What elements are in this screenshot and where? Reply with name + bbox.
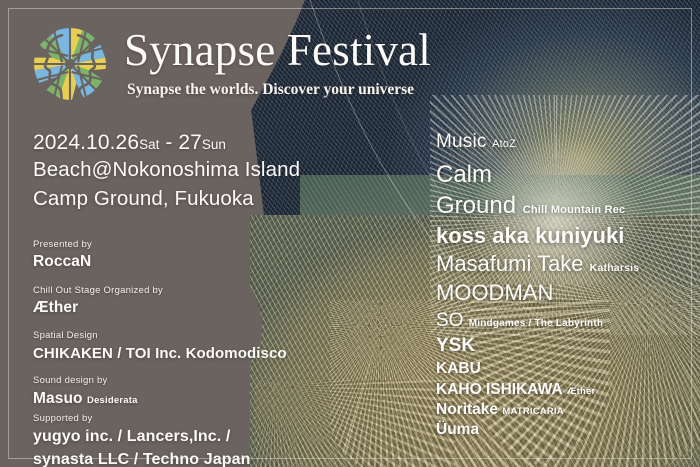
act-tag: Chill Mountain Rec (523, 204, 626, 216)
music-lineup: Music AtoZ Calm Ground Chill Mountain Re… (436, 132, 686, 442)
act-tag: Mindgames / The Labyrinth (469, 318, 603, 329)
date-dow-start: Sat (139, 137, 159, 152)
credit-value: Masuo Desiderata (33, 389, 333, 409)
lineup-heading: Music AtoZ (436, 132, 686, 151)
lineup-act: Üuma (436, 421, 686, 438)
act-name: Ground (436, 192, 516, 219)
credit-label: Presented by (33, 238, 333, 252)
festival-poster: Synapse Festival Synapse the worlds. Dis… (0, 0, 700, 467)
synapse-mosaic-logo-icon (30, 24, 110, 104)
act-name: KAHO ISHIKAWA (436, 381, 563, 398)
credit-presented-by: Presented by RoccaN (33, 238, 333, 273)
lineup-act: Ground Chill Mountain Rec (436, 193, 686, 220)
credit-value-name: Masuo (33, 390, 83, 407)
credit-chill-out-stage: Chill Out Stage Organized by Æther (33, 284, 333, 319)
credits-section: Presented by RoccaN Chill Out Stage Orga… (33, 238, 333, 467)
credit-value: Æther (33, 298, 333, 318)
credit-sound-design: Sound design by Masuo Desiderata (33, 374, 333, 409)
lineup-act: MOODMAN (436, 281, 686, 306)
lineup-heading-sub: AtoZ (492, 138, 516, 150)
date-dow-end: Sun (202, 137, 226, 152)
lineup-act: YSK (436, 335, 686, 356)
credit-value: CHIKAKEN / TOI Inc. Kodomodisco (33, 344, 333, 364)
credit-spatial-design: Spatial Design CHIKAKEN / TOI Inc. Kodom… (33, 329, 333, 363)
lineup-act: KABU (436, 360, 686, 377)
lineup-heading-text: Music (436, 131, 487, 152)
act-name: Üuma (436, 421, 479, 438)
act-name: MOODMAN (436, 280, 553, 305)
credit-value-sub: Desiderata (87, 395, 138, 406)
act-tag: Æther (567, 386, 595, 397)
lineup-act: Calm (436, 162, 686, 189)
lineup-act: Noritake MATRICARIA (436, 401, 686, 418)
lineup-act: SO Mindgames / The Labyrinth (436, 310, 686, 331)
act-tag: Katharsis (590, 262, 640, 274)
act-name: Calm (436, 161, 492, 188)
credit-label: Spatial Design (33, 329, 333, 343)
supported-line-2: synasta LLC / Techno Japan (33, 449, 333, 467)
event-details: 2024.10.26Sat - 27Sun Beach@Nokonoshima … (33, 130, 300, 214)
credit-value: RoccaN (33, 252, 333, 272)
page-title: Synapse Festival (124, 28, 431, 73)
credit-label: Supported by (33, 412, 333, 426)
tagline: Synapse the worlds. Discover your univer… (127, 82, 431, 98)
date-end: 27 (178, 131, 202, 154)
act-name: Masafumi Take (436, 251, 584, 276)
act-tag: MATRICARIA (502, 406, 563, 417)
event-date: 2024.10.26Sat - 27Sun (33, 130, 300, 156)
lineup-act: koss aka kuniyuki (436, 224, 686, 249)
act-name: Noritake (436, 401, 498, 418)
credit-supported-by: Supported by yugyo inc. / Lancers,Inc. /… (33, 412, 333, 467)
act-name: SO (436, 310, 463, 331)
credit-label: Sound design by (33, 374, 333, 388)
act-name: KABU (436, 360, 481, 377)
lineup-act: Masafumi Take Katharsis (436, 252, 686, 277)
credit-label: Chill Out Stage Organized by (33, 284, 333, 298)
poster-header: Synapse Festival Synapse the worlds. Dis… (30, 24, 431, 104)
act-name: koss aka kuniyuki (436, 223, 624, 248)
date-separator: - (165, 131, 172, 154)
date-main: 2024.10.26 (33, 131, 139, 154)
supported-line-1: yugyo inc. / Lancers,Inc. / (33, 426, 333, 449)
venue-line-1: Beach@Nokonoshima Island (33, 156, 300, 185)
act-name: YSK (436, 335, 475, 356)
lineup-act: KAHO ISHIKAWA Æther (436, 381, 686, 398)
venue-line-2: Camp Ground, Fukuoka (33, 185, 300, 214)
